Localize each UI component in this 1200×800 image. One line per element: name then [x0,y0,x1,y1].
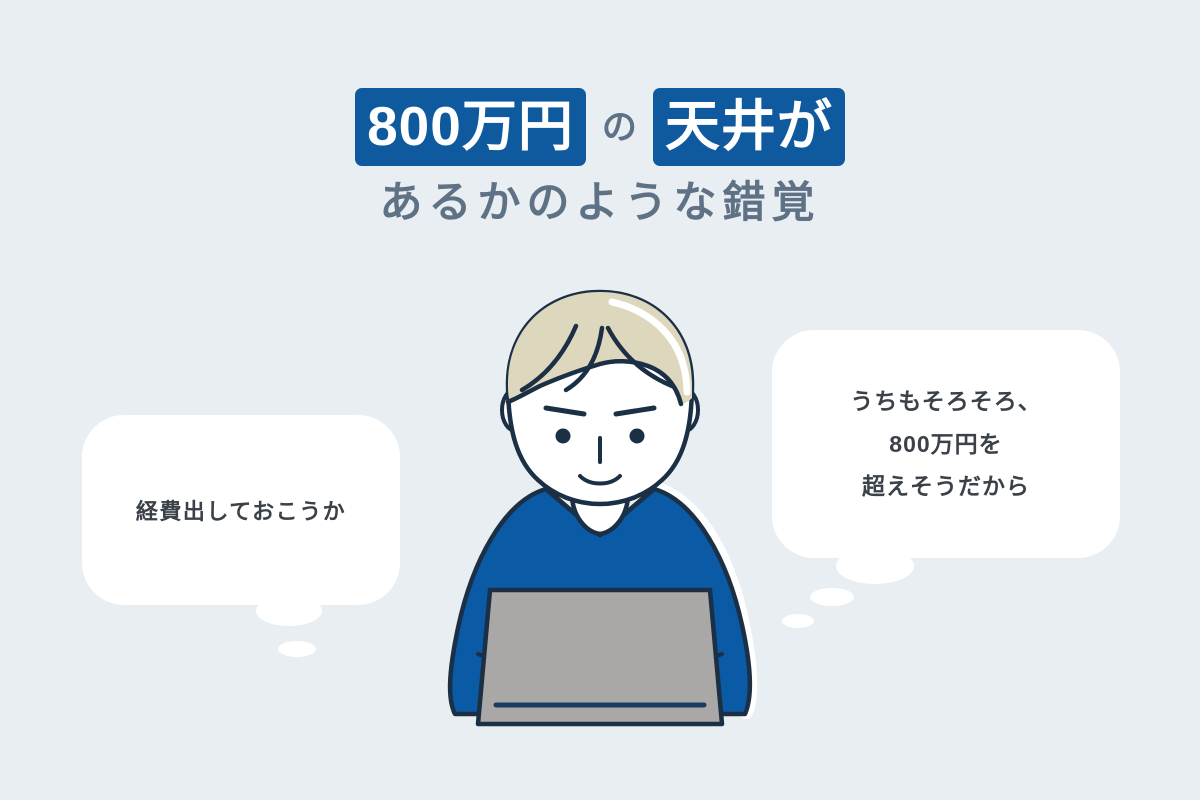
title-block: 800万円 の 天井が あるかのような錯覚 [0,0,1200,260]
head-group [508,292,692,504]
title-subtitle: あるかのような錯覚 [0,180,1200,227]
title-highlight-amount: 800万円 [355,88,586,166]
thought-bubble-right-line-1: うちもそろそろ、 [850,380,1042,423]
person-illustration [400,280,800,750]
thought-bubble-right: うちもそろそろ、 800万円を 超えそうだから [772,330,1120,558]
thought-bubble-left: 経費出しておこうか [82,415,400,605]
thought-tail-left-large [256,596,322,626]
eye-right [630,429,645,444]
thought-tail-left-small [278,641,316,657]
title-highlight-ceiling: 天井が [653,88,845,166]
title-particle: の [586,88,653,166]
laptop-group [478,590,722,724]
title-line-1: 800万円 の 天井が [0,88,1200,166]
thought-bubble-right-line-2: 800万円を [850,423,1042,466]
thought-tail-right-large [836,548,914,584]
eye-left [556,429,571,444]
thought-bubble-left-text: 経費出しておこうか [136,494,346,526]
thought-tail-right-medium [810,588,854,606]
thought-bubble-right-text-block: うちもそろそろ、 800万円を 超えそうだから [850,380,1042,508]
thought-bubble-right-line-3: 超えそうだから [850,465,1042,508]
